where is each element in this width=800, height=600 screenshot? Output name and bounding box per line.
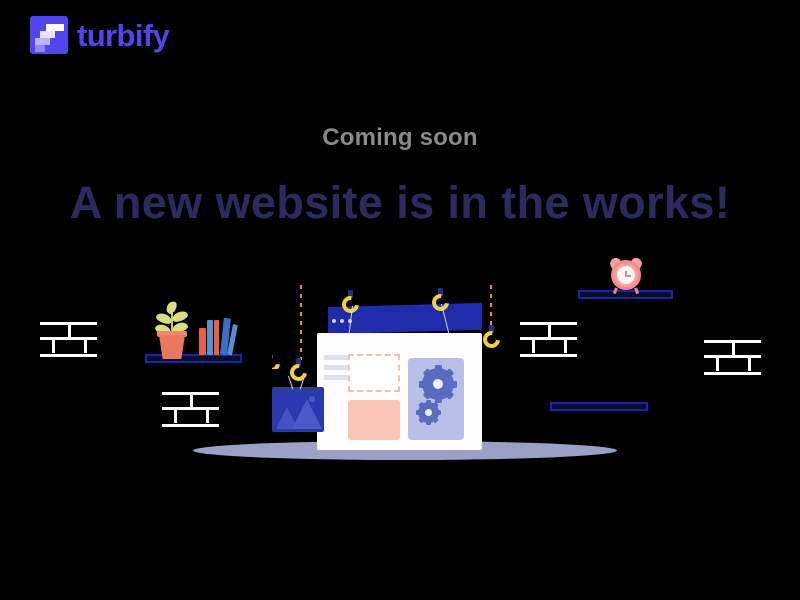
under-construction-illustration [0,0,800,600]
hook-string-center-left [349,306,353,334]
content-placeholder-box [348,354,400,392]
crane-hook-edge-fragment [272,355,280,369]
hook-string-center-right [441,304,449,333]
browser-menu-lines [324,355,349,380]
brand-logo[interactable]: turbify [30,16,169,54]
dashed-drop-line-right [490,285,492,325]
wall-shelf-plant [145,354,242,363]
hook-string-left [288,376,293,390]
ground-shadow [193,441,617,460]
wall-shelf-clock [578,290,673,299]
browser-title-bar [328,303,482,334]
wall-shelf-lower-right [550,402,648,411]
gear-large-icon [422,368,454,400]
dashed-drop-line-left [300,285,302,360]
potted-plant [152,301,194,355]
brand-wordmark: turbify [77,20,169,51]
hook-string-left2 [300,376,305,390]
coming-soon-eyebrow: Coming soon [0,124,800,152]
brick-pattern-mid-left [162,392,219,430]
browser-window-controls [332,319,352,323]
stack-of-books [199,316,235,355]
hanging-image-card [272,387,324,432]
brick-pattern-far-right [704,340,761,378]
page-title: A new website is in the works! [0,177,800,229]
content-block-peach [348,400,400,440]
gear-small-icon [418,402,439,423]
alarm-clock [608,255,644,291]
turbify-logo-mark-icon [30,16,68,54]
content-block-gears [408,358,464,440]
brick-pattern-top-left [40,322,97,360]
brick-pattern-mid-right [520,322,577,360]
browser-window-body [317,333,482,450]
